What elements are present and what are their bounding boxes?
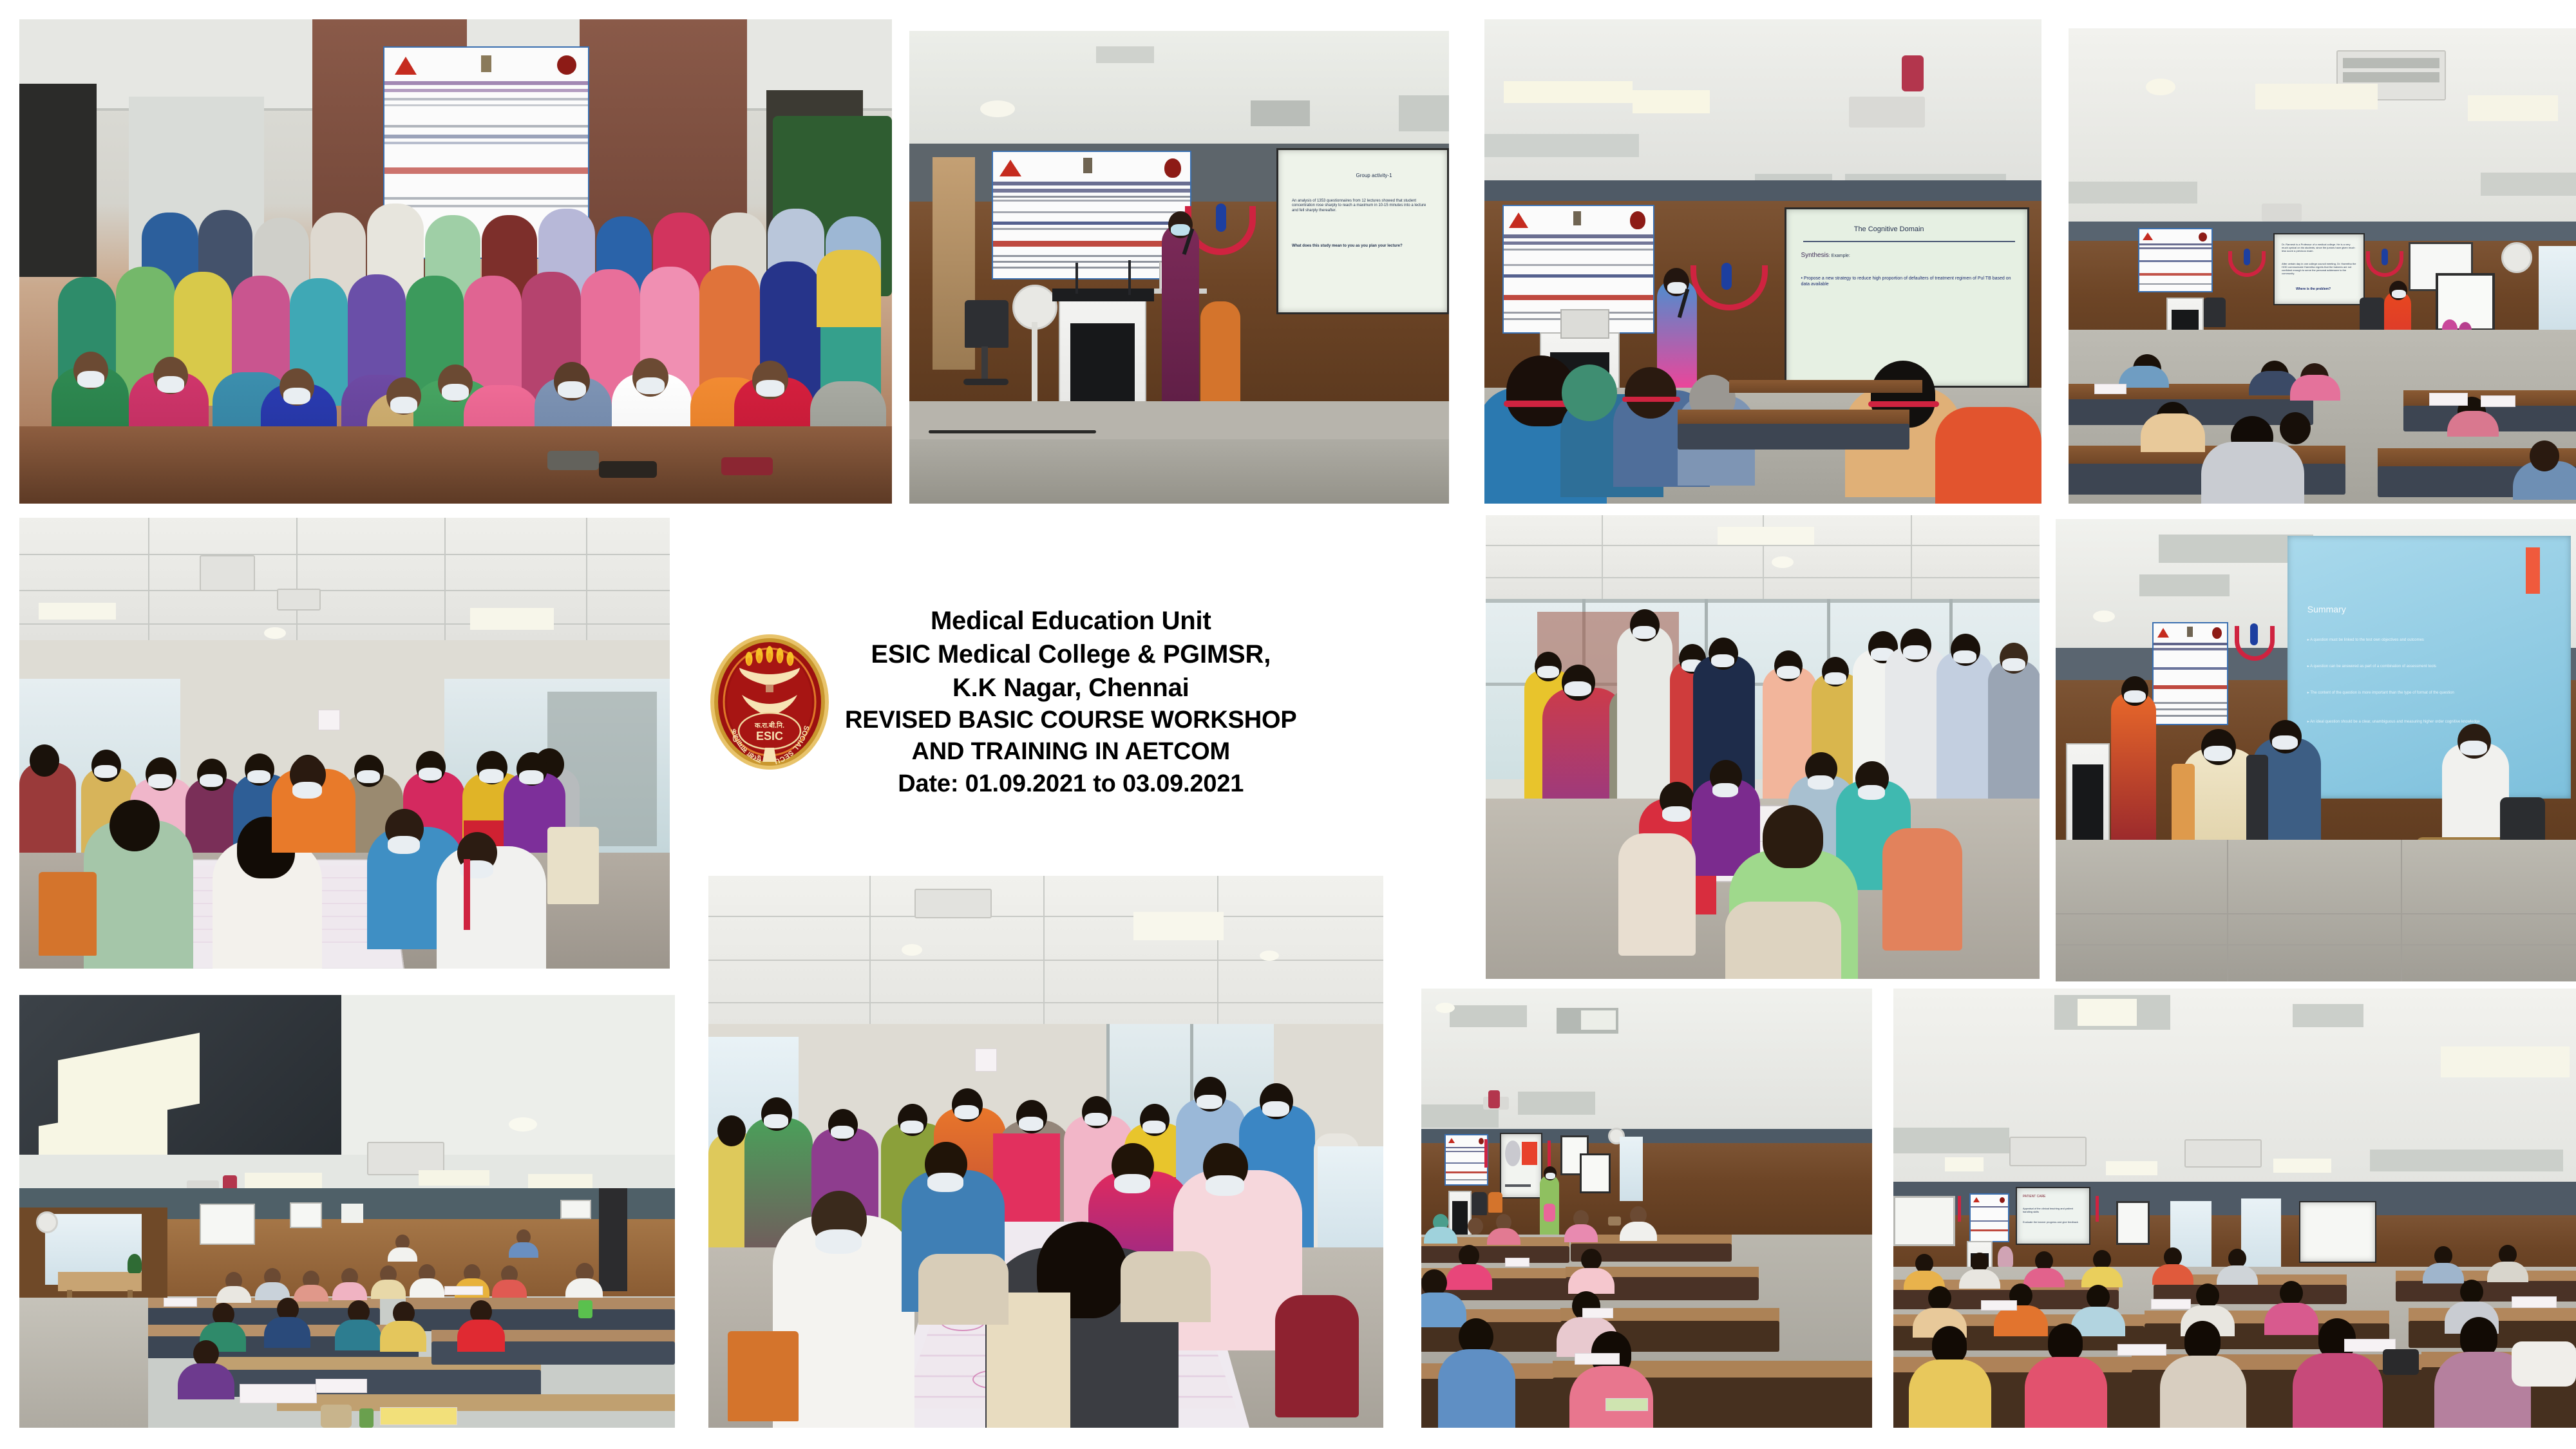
esic-logo: क.रा.बी.नि. ESIC SOCIAL SECURITY सुरक्षा…	[708, 633, 831, 772]
svg-text:क.रा.बी.नि.: क.रा.बी.नि.	[754, 721, 784, 730]
photo-summary-session: Summary ▸ A question must be linked to t…	[2056, 519, 2576, 981]
projection-screen: Summary ▸ A question must be linked to t…	[2287, 536, 2571, 799]
photo-cognitive-domain-session: The Cognitive Domain Synthesis: Example:…	[1484, 19, 2041, 504]
svg-text:ESIC: ESIC	[756, 730, 783, 743]
title-line-3: K.K Nagar, Chennai	[952, 671, 1189, 705]
photo-lecture-hall-participants-left	[19, 995, 675, 1428]
photo-lecture-hall-facilitator-aisle	[1421, 989, 1872, 1428]
projection-screen	[1500, 1133, 1542, 1198]
projection-screen: Group activity-1 An analysis of 1353 que…	[1276, 148, 1449, 314]
title-line-4: REVISED BASIC COURSE WORKSHOP	[845, 705, 1297, 736]
title-line-1: Medical Education Unit	[931, 604, 1211, 638]
title-line-5: AND TRAINING IN AETCOM	[912, 736, 1231, 768]
poster-title-block: क.रा.बी.नि. ESIC SOCIAL SECURITY सुरक्षा…	[708, 567, 1513, 837]
photo-small-group-discussion-a	[19, 518, 670, 969]
projection-screen: PATIENT CARE Appraisal of the clinical t…	[2016, 1187, 2090, 1245]
projection-screen: Dr. Ramesh is a Professor of a medical c…	[2273, 233, 2365, 305]
photo-collage-poster: Group activity-1 An analysis of 1353 que…	[0, 0, 2576, 1449]
photo-group-work-banner-room	[708, 876, 1383, 1428]
photo-small-group-discussion-b	[1486, 515, 2040, 979]
photo-auditorium-wide-session: Dr. Ramesh is a Professor of a medical c…	[2069, 28, 2576, 504]
title-line-6: Date: 01.09.2021 to 03.09.2021	[898, 768, 1244, 800]
photo-lecture-hall-participants-right: PATIENT CARE Appraisal of the clinical t…	[1893, 989, 2576, 1428]
photo-podium-speaker: Group activity-1 An analysis of 1353 que…	[909, 31, 1449, 504]
photo-group-photo	[19, 19, 892, 504]
title-line-2: ESIC Medical College & PGIMSR,	[871, 638, 1271, 671]
